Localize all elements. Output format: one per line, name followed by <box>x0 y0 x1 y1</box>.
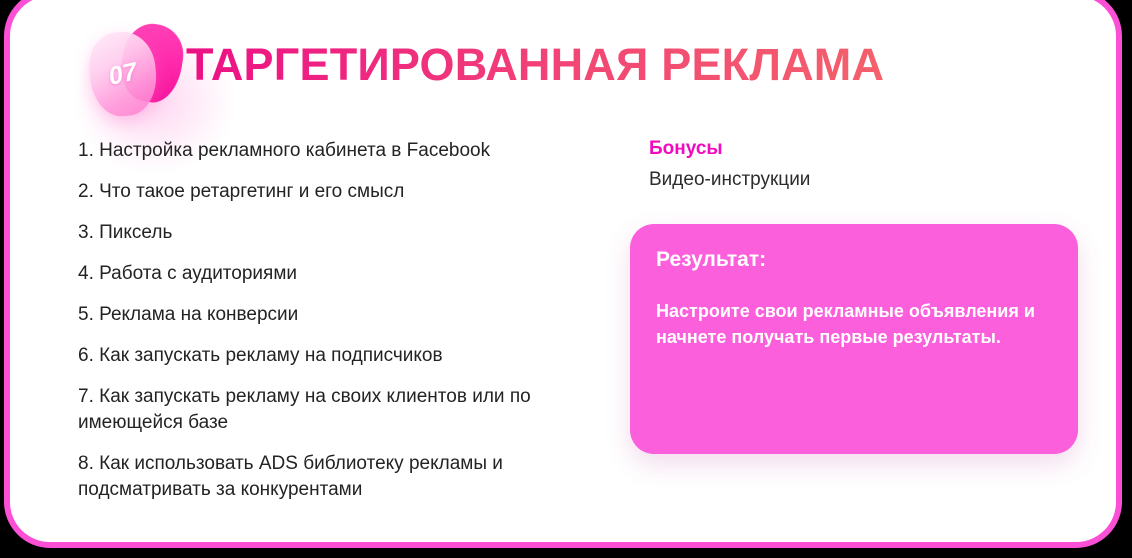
topic-list: 1. Настройка рекламного кабинета в Faceb… <box>78 138 598 518</box>
slide-card: 07 ТАРГЕТИРОВАННАЯ РЕКЛАМА 1. Настройка … <box>4 0 1122 548</box>
bonus-block: Бонусы Видео-инструкции <box>649 136 810 193</box>
list-item: 2. Что такое ретаргетинг и его смысл <box>78 179 598 205</box>
list-item: 8. Как использовать ADS библиотеку рекла… <box>78 451 598 503</box>
result-card: Результат: Настроите свои рекламные объя… <box>630 224 1078 454</box>
list-item: 3. Пиксель <box>78 220 598 246</box>
list-item: 1. Настройка рекламного кабинета в Faceb… <box>78 138 598 164</box>
result-text: Настроите свои рекламные объявления и на… <box>656 298 1052 350</box>
list-item: 4. Работа с аудиториями <box>78 261 598 287</box>
bonus-text: Видео-инструкции <box>649 167 810 193</box>
page-title: ТАРГЕТИРОВАННАЯ РЕКЛАМА <box>186 42 884 87</box>
list-item: 7. Как запускать рекламу на своих клиент… <box>78 384 598 436</box>
slide-number-badge: 07 <box>88 22 192 118</box>
badge-blob-front-icon: 07 <box>86 29 160 119</box>
list-item: 5. Реклама на конверсии <box>78 302 598 328</box>
bonus-title: Бонусы <box>649 136 810 162</box>
list-item: 6. Как запускать рекламу на подписчиков <box>78 343 598 369</box>
result-label: Результат: <box>656 246 1052 274</box>
